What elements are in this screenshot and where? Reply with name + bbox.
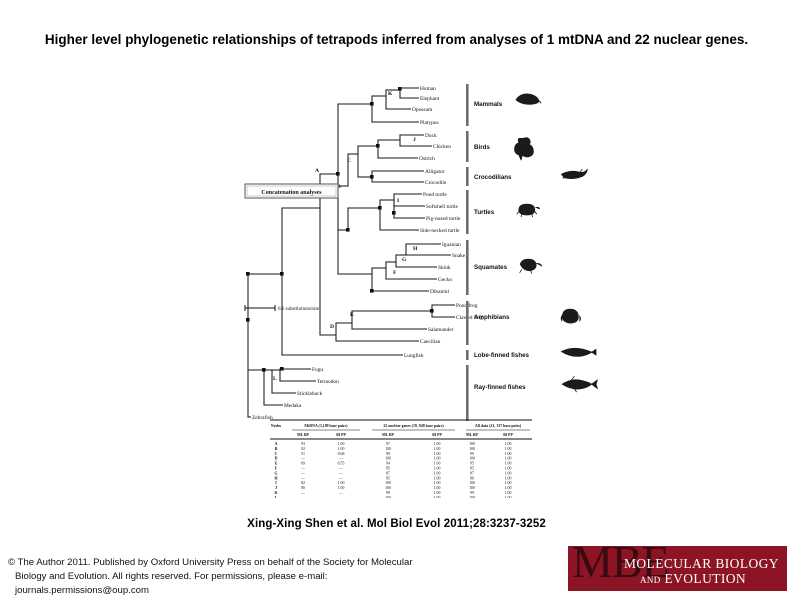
table-value-cell: 1.00 xyxy=(505,471,512,475)
taxon-name: Elephant xyxy=(420,96,440,102)
crocodile-icon xyxy=(561,169,587,178)
tree-svg: HumanElephantOpossumPlatypusDuckChickenO… xyxy=(0,78,793,498)
taxon-label: Skink xyxy=(434,265,451,271)
table-value-cell: 100 xyxy=(469,457,475,461)
taxon-name: Crocodile xyxy=(425,180,447,186)
node-letter: F xyxy=(393,270,397,276)
table-value-cell: 97 xyxy=(386,442,390,446)
table-value-cell: 1.00 xyxy=(434,476,441,480)
node-letter: H xyxy=(413,246,418,252)
table-value-cell: — xyxy=(338,491,343,495)
table-value-cell: 1.00 xyxy=(338,486,345,490)
taxon-label: Zebrafish xyxy=(248,414,273,421)
table-node-cell: D xyxy=(275,457,278,461)
taxon-label: Human xyxy=(416,86,436,92)
scale-bar: 0.1 substitutions/site xyxy=(245,305,320,312)
table-value-cell: 95 xyxy=(470,462,474,466)
table-value-cell: 0.55 xyxy=(338,462,345,466)
taxon-name: Salamander xyxy=(428,327,454,333)
table-value-cell: 1.00 xyxy=(505,462,512,466)
node-letter: L xyxy=(273,376,277,382)
table-node-cell: B xyxy=(275,447,278,451)
table-value-cell: 85 xyxy=(386,467,390,471)
table-value-cell: 1.00 xyxy=(505,452,512,456)
footer-line-3: journals.permissions@oup.com xyxy=(8,584,478,598)
table-node-cell: C xyxy=(275,452,278,456)
table-group-header: 22 nuclear genes (19, 948 base pairs) xyxy=(383,424,444,428)
table-node-cell: F xyxy=(275,467,278,471)
taxon-name: Lungfish xyxy=(404,352,424,359)
group-label: Squamates xyxy=(474,264,508,271)
table-node-cell: I xyxy=(275,481,277,485)
table-value-cell: 1.00 xyxy=(434,447,441,451)
turtle-icon xyxy=(517,204,540,217)
group-annotation: Turtles xyxy=(466,190,540,234)
mbe-logo-line-1: MOLECULAR BIOLOGY xyxy=(624,556,779,572)
taxon-name: Iguanian xyxy=(442,242,461,248)
taxon-label: Gecko xyxy=(434,277,452,283)
table-value-cell: 1.00 xyxy=(434,486,441,490)
table-value-cell: 100 xyxy=(385,457,391,461)
table-value-cell: 69 xyxy=(301,462,305,466)
table-value-cell: 85 xyxy=(386,476,390,480)
table-value-cell: 1.00 xyxy=(434,491,441,495)
group-label: Crocodilians xyxy=(474,174,512,181)
table-value-cell: — xyxy=(338,496,343,498)
taxon-label: Opossum xyxy=(408,107,433,113)
table-value-cell: 1.00 xyxy=(434,471,441,475)
table-value-cell: 99 xyxy=(470,452,474,456)
table-group-header: MtDNA (3,189 base pairs) xyxy=(304,424,348,428)
group-label: Birds xyxy=(474,144,490,151)
table-value-cell: — xyxy=(300,457,305,461)
table-value-cell: 93 xyxy=(301,442,305,446)
taxon-name: Chicken xyxy=(433,144,451,150)
svg-text:0.1 substitutions/site: 0.1 substitutions/site xyxy=(278,307,320,312)
group-annotation: Birds xyxy=(466,131,533,162)
fish-icon xyxy=(562,376,597,392)
mbe-logo-and: AND xyxy=(640,575,661,585)
taxon-label: Chicken xyxy=(429,144,451,150)
bird-icon xyxy=(515,138,534,160)
table-node-cell: G xyxy=(274,471,277,475)
table-value-cell: 1.00 xyxy=(434,442,441,446)
footer-line-2: Biology and Evolution. All rights reserv… xyxy=(8,570,478,584)
node-letter: D xyxy=(330,324,334,330)
group-label: Amphibians xyxy=(474,314,510,321)
taxon-label: Pig-nosed turtle xyxy=(422,216,461,222)
taxon-label: Salamander xyxy=(424,327,454,333)
mbe-logo-line-2: AND EVOLUTION xyxy=(640,571,746,587)
table-value-cell: 80 xyxy=(301,486,305,490)
mbe-logo-evolution: EVOLUTION xyxy=(664,571,746,586)
taxon-name: Tetraodon xyxy=(317,379,339,385)
mammal-icon xyxy=(516,94,541,104)
table-group-header: All data (23, 137 base pairs) xyxy=(475,424,522,428)
figure-phylogenetic-tree: HumanElephantOpossumPlatypusDuckChickenO… xyxy=(0,78,793,498)
taxon-name: Caecilian xyxy=(420,339,441,345)
node-letter: G xyxy=(402,257,407,263)
taxon-label: Platypus xyxy=(416,120,439,126)
taxon-label: Ostrich xyxy=(415,156,435,162)
table-node-cell: E xyxy=(275,462,278,466)
taxon-name: Softshell turtle xyxy=(426,203,458,210)
table-value-cell: 1.00 xyxy=(338,442,345,446)
table-value-cell: 0.68 xyxy=(338,452,345,456)
table-value-cell: 1.00 xyxy=(505,486,512,490)
page-title: Higher level phylogenetic relationships … xyxy=(30,30,763,50)
taxon-label: Dibamid xyxy=(426,289,449,295)
taxon-label: Caecilian xyxy=(416,339,441,345)
taxon-name: Medaka xyxy=(284,403,302,409)
taxon-name: Stickleback xyxy=(297,391,322,397)
table-value-cell: 100 xyxy=(469,447,475,451)
group-label: Ray-finned fishes xyxy=(474,384,526,391)
table-value-cell: 1.00 xyxy=(434,457,441,461)
table-value-cell: 51 xyxy=(301,452,305,456)
taxon-label: Elephant xyxy=(416,96,440,102)
taxon-label: Snake xyxy=(448,253,466,259)
citation: Xing-Xing Shen et al. Mol Biol Evol 2011… xyxy=(0,518,793,530)
table-value-cell: 92 xyxy=(301,447,305,451)
table-value-cell: 1.00 xyxy=(505,476,512,480)
taxon-name: Alligator xyxy=(425,169,445,175)
table-value-cell: 1.00 xyxy=(505,496,512,498)
taxon-label: Pond turtle xyxy=(419,192,447,198)
table-value-cell: 87 xyxy=(386,471,390,475)
taxon-name: Pond turtle xyxy=(423,192,447,198)
taxon-name: Dibamid xyxy=(430,289,449,295)
table-subheader: ML BP xyxy=(297,433,309,437)
table-subheader: ML BP xyxy=(382,433,394,437)
group-annotation: Amphibians xyxy=(466,301,581,345)
group-annotation: Ray-finned fishes xyxy=(466,365,597,421)
table-value-cell: 100 xyxy=(385,481,391,485)
table-value-cell: 1.00 xyxy=(505,467,512,471)
node-letter: E xyxy=(350,312,354,318)
group-annotation: Mammals xyxy=(466,84,541,126)
table-value-cell: — xyxy=(300,467,305,471)
taxon-name: Pig-nosed turtle xyxy=(426,216,461,222)
node-letter: K xyxy=(388,91,393,97)
table-value-cell: 82 xyxy=(301,481,305,485)
table-value-cell: 1.00 xyxy=(505,447,512,451)
table-value-cell: 94 xyxy=(386,462,390,466)
taxon-label: Pond frog xyxy=(452,302,478,309)
table-node-cell: J xyxy=(275,486,277,490)
group-label: Mammals xyxy=(474,101,503,108)
table-value-cell: — xyxy=(300,471,305,475)
group-label: Lobe-finned fishes xyxy=(474,352,530,359)
taxon-label: Stickleback xyxy=(293,391,322,397)
taxon-label: Tetraodon xyxy=(313,379,339,385)
taxon-label: Iguanian xyxy=(438,242,461,248)
taxon-label: Duck xyxy=(421,133,437,139)
taxon-labels: HumanElephantOpossumPlatypusDuckChickenO… xyxy=(248,86,483,421)
taxon-name: Side-necked turtle xyxy=(420,228,460,234)
table-value-cell: 1.00 xyxy=(434,481,441,485)
taxon-name: Ostrich xyxy=(419,156,435,162)
support-table: NodesMtDNA (3,189 base pairs)ML BPBI PP2… xyxy=(270,420,532,498)
taxon-name: Opossum xyxy=(412,107,433,113)
table-row-header: Nodes xyxy=(271,424,282,428)
table-value-cell: — xyxy=(338,476,343,480)
tree-branches xyxy=(248,88,454,417)
table-value-cell: 100 xyxy=(469,486,475,490)
table-value-cell: 1.00 xyxy=(434,452,441,456)
taxon-label: Medaka xyxy=(280,403,302,409)
frog-icon xyxy=(561,309,580,323)
table-subheader: BI PP xyxy=(336,433,346,437)
table-value-cell: 85 xyxy=(470,467,474,471)
table-value-cell: 99 xyxy=(470,491,474,495)
taxon-name: Snake xyxy=(452,253,466,259)
table-value-cell: 99 xyxy=(386,452,390,456)
table-subheader: ML BP xyxy=(466,433,478,437)
table-value-cell: 1.00 xyxy=(338,481,345,485)
group-label: Turtles xyxy=(474,209,495,216)
footer-line-1: © The Author 2011. Published by Oxford U… xyxy=(8,556,478,570)
taxon-label: Crocodile xyxy=(421,180,447,186)
taxon-label: Alligator xyxy=(421,169,445,175)
table-value-cell: 1.00 xyxy=(505,442,512,446)
group-annotation: Crocodilians xyxy=(466,167,587,186)
taxon-name: Platypus xyxy=(420,120,439,126)
table-value-cell: — xyxy=(338,471,343,475)
table-value-cell: 100 xyxy=(385,447,391,451)
table-value-cell: — xyxy=(338,457,343,461)
table-value-cell: 99 xyxy=(386,491,390,495)
table-value-cell: 86 xyxy=(470,476,474,480)
node-letters: ABCDEFGHIJKL xyxy=(273,91,418,382)
table-value-cell: — xyxy=(300,476,305,480)
table-node-cell: K xyxy=(274,491,277,495)
taxon-name: Zebrafish xyxy=(252,414,273,421)
table-value-cell: 100 xyxy=(469,496,475,498)
table-node-cell: A xyxy=(275,442,278,446)
taxon-label: Softshell turtle xyxy=(422,203,458,210)
panel-label-box: Concatenation analyses xyxy=(245,184,338,198)
group-annotation: Lobe-finned fishes xyxy=(466,348,596,360)
group-annotation: Squamates xyxy=(466,240,542,295)
taxon-name: Gecko xyxy=(438,277,452,283)
taxon-name: Duck xyxy=(425,133,437,139)
taxon-label: Lungfish xyxy=(400,352,424,359)
taxon-name: Fugu xyxy=(312,367,323,373)
table-value-cell: 1.00 xyxy=(434,496,441,498)
table-value-cell: 1.00 xyxy=(505,457,512,461)
table-value-cell: 1.00 xyxy=(505,491,512,495)
table-value-cell: 100 xyxy=(385,486,391,490)
table-value-cell: — xyxy=(300,496,305,498)
table-value-cell: 1.00 xyxy=(338,447,345,451)
table-subheader: BI PP xyxy=(432,433,442,437)
table-value-cell: — xyxy=(300,491,305,495)
group-annotations: MammalsBirdsCrocodiliansTurtlesSquamates… xyxy=(466,84,597,421)
table-node-cell: L xyxy=(275,496,278,498)
svg-text:Concatenation analyses: Concatenation analyses xyxy=(261,190,322,196)
node-letter: J xyxy=(413,137,416,143)
node-letter: A xyxy=(315,168,319,174)
table-value-cell: 87 xyxy=(470,471,474,475)
table-value-cell: 1.00 xyxy=(434,462,441,466)
taxon-label: Fugu xyxy=(308,367,323,373)
node-letter: I xyxy=(397,198,399,204)
table-value-cell: 1.00 xyxy=(434,467,441,471)
table-value-cell: 1.00 xyxy=(505,481,512,485)
taxon-name: Human xyxy=(420,86,436,92)
table-node-cell: H xyxy=(274,476,277,480)
node-letter: C xyxy=(347,158,351,164)
taxon-label: Side-necked turtle xyxy=(416,228,460,234)
lizard-icon xyxy=(520,259,542,273)
table-value-cell: 100 xyxy=(385,496,391,498)
table-value-cell: 100 xyxy=(469,481,475,485)
copyright-footer: © The Author 2011. Published by Oxford U… xyxy=(8,556,478,598)
table-value-cell: — xyxy=(338,467,343,471)
taxon-name: Skink xyxy=(438,265,451,271)
lungfish-icon xyxy=(561,348,596,356)
table-subheader: BI PP xyxy=(503,433,513,437)
mbe-logo: MBE MOLECULAR BIOLOGY AND EVOLUTION xyxy=(568,546,787,591)
table-value-cell: 100 xyxy=(469,442,475,446)
